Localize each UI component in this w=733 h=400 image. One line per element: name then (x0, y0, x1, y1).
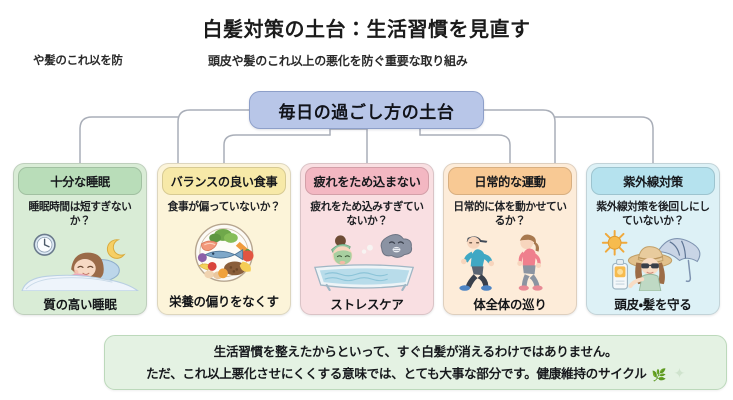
card-daily-exercise-footer: 体全体の巡り (444, 291, 576, 315)
sparkle-icon: ✦ (674, 365, 685, 381)
card-balanced-diet-footer: 栄養の偏りをなくす (158, 288, 290, 314)
card-balanced-diet-header: バランスの良い食事 (162, 167, 286, 195)
card-stress-care-footer-label: ストレスケア (330, 295, 403, 313)
card-uv-protection-footer-label: 頭皮・髪を守る (614, 295, 691, 313)
card-uv-protection[interactable]: 紫外線対策 紫外線対策を後回しにしていないか？ (586, 163, 720, 315)
card-balanced-diet-question: 食事が偏っていないか？ (158, 201, 290, 215)
sleeping-person-clock-moon-icon (20, 230, 140, 291)
root-node-label: 毎日の過ごし方の土台 (279, 98, 455, 123)
leaf-icon: 🌿 (652, 366, 667, 385)
card-stress-care-footer: ストレスケア (301, 291, 433, 315)
card-stress-care-header-label: 疲れをため込まない (314, 172, 421, 190)
running-and-walking-people-icon (450, 230, 570, 291)
card-stress-care-question: 疲れをため込みすぎていないか？ (301, 201, 433, 228)
card-stress-care[interactable]: 疲れをため込まない 疲れをため込みすぎていないか？ (300, 163, 434, 315)
card-balanced-diet-header-label: バランスの良い食事 (171, 172, 278, 190)
card-sleep[interactable]: 十分な睡眠 睡眠時間は短すぎないか？ (13, 163, 147, 315)
card-sleep-question: 睡眠時間は短すぎないか？ (14, 201, 146, 228)
card-uv-protection-header-label: 紫外線対策 (623, 172, 682, 190)
footer-note-line-2: ただ、これ以上悪化させにくくする意味では、とても大事な部分です。健康維持のサイク… (105, 363, 726, 385)
card-daily-exercise-question: 日常的に体を動かせているか？ (444, 201, 576, 228)
balanced-meal-plate-icon (164, 217, 284, 288)
card-daily-exercise-header: 日常的な運動 (448, 167, 572, 195)
infographic-canvas: 白髪対策の土台：生活習慣を見直す や髪のこれ以を防 頭皮や髪のこれ以上の悪化を防… (0, 0, 733, 400)
card-uv-protection-footer: 頭皮・髪を守る (587, 291, 719, 315)
card-sleep-footer: 質の高い睡眠 (14, 291, 146, 315)
card-sleep-footer-label: 質の高い睡眠 (43, 295, 116, 313)
page-title: 白髪対策の土台：生活習慣を見直す (0, 13, 733, 42)
card-sleep-header-label: 十分な睡眠 (50, 172, 109, 190)
footer-note-line-1: 生活習慣を整えたからといって、すぐ白髪が消えるわけではありません。 (105, 343, 726, 363)
subtitle-left-fragment: や髪のこれ以を防 (33, 52, 123, 68)
subtitle-main: 頭皮や髪のこれ以上の悪化を防ぐ重要な取り組み (208, 52, 468, 69)
root-node[interactable]: 毎日の過ごし方の土台 (249, 91, 484, 129)
card-balanced-diet-footer-label: 栄養の偏りをなくす (169, 292, 279, 310)
person-in-bathtub-facemask-icon (307, 230, 427, 291)
footer-note: 生活習慣を整えたからといって、すぐ白髪が消えるわけではありません。 ただ、これ以… (104, 335, 727, 390)
footer-note-line-2-text: ただ、これ以上悪化させにくくする意味では、とても大事な部分です。健康維持のサイク… (146, 367, 647, 381)
card-uv-protection-question: 紫外線対策を後回しにしていないか？ (587, 201, 719, 228)
card-stress-care-header: 疲れをため込まない (305, 167, 429, 195)
card-daily-exercise-footer-label: 体全体の巡り (473, 295, 546, 313)
card-balanced-diet[interactable]: バランスの良い食事 食事が偏っていないか？ (157, 163, 291, 315)
card-daily-exercise[interactable]: 日常的な運動 日常的に体を動かせているか？ (443, 163, 577, 315)
card-sleep-header: 十分な睡眠 (18, 167, 142, 195)
sun-hat-parasol-sunscreen-icon (593, 230, 713, 291)
card-daily-exercise-header-label: 日常的な運動 (474, 172, 545, 190)
card-uv-protection-header: 紫外線対策 (591, 167, 715, 195)
